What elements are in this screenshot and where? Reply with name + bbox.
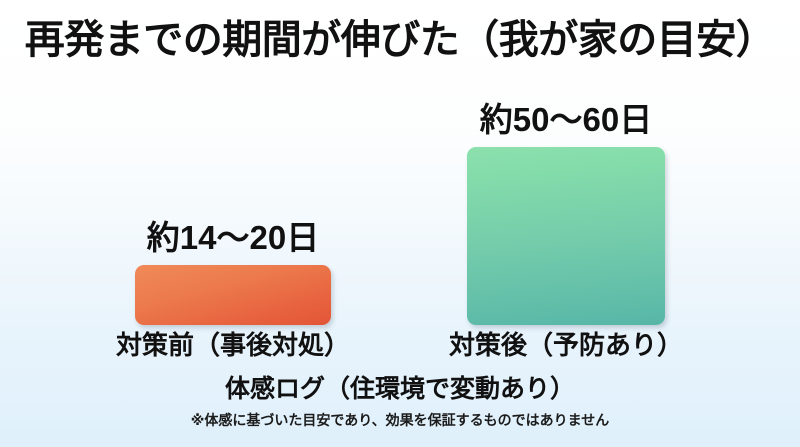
bar-value-label-after: 約50〜60日 bbox=[467, 101, 665, 139]
axis-label-after: 対策後（予防あり） bbox=[426, 330, 706, 360]
chart-caption: 体感ログ（住環境で変動あり） bbox=[0, 374, 800, 404]
chart-plot-area: 約14〜20日 約50〜60日 bbox=[0, 70, 800, 325]
bar-value-label-before: 約14〜20日 bbox=[135, 219, 331, 257]
bar-before bbox=[135, 265, 331, 325]
bar-group-before: 約14〜20日 bbox=[135, 77, 331, 325]
chart-disclaimer: ※体感に基づいた目安であり、効果を保証するものではありません bbox=[0, 411, 800, 430]
bar-after bbox=[467, 147, 665, 325]
bar-group-after: 約50〜60日 bbox=[467, 77, 665, 325]
slide-canvas: 再発までの期間が伸びた（我が家の目安） 約14〜20日 約50〜60日 対策前（… bbox=[0, 0, 800, 447]
axis-label-before: 対策前（事後対処） bbox=[93, 330, 373, 360]
page-title: 再発までの期間が伸びた（我が家の目安） bbox=[0, 17, 800, 63]
